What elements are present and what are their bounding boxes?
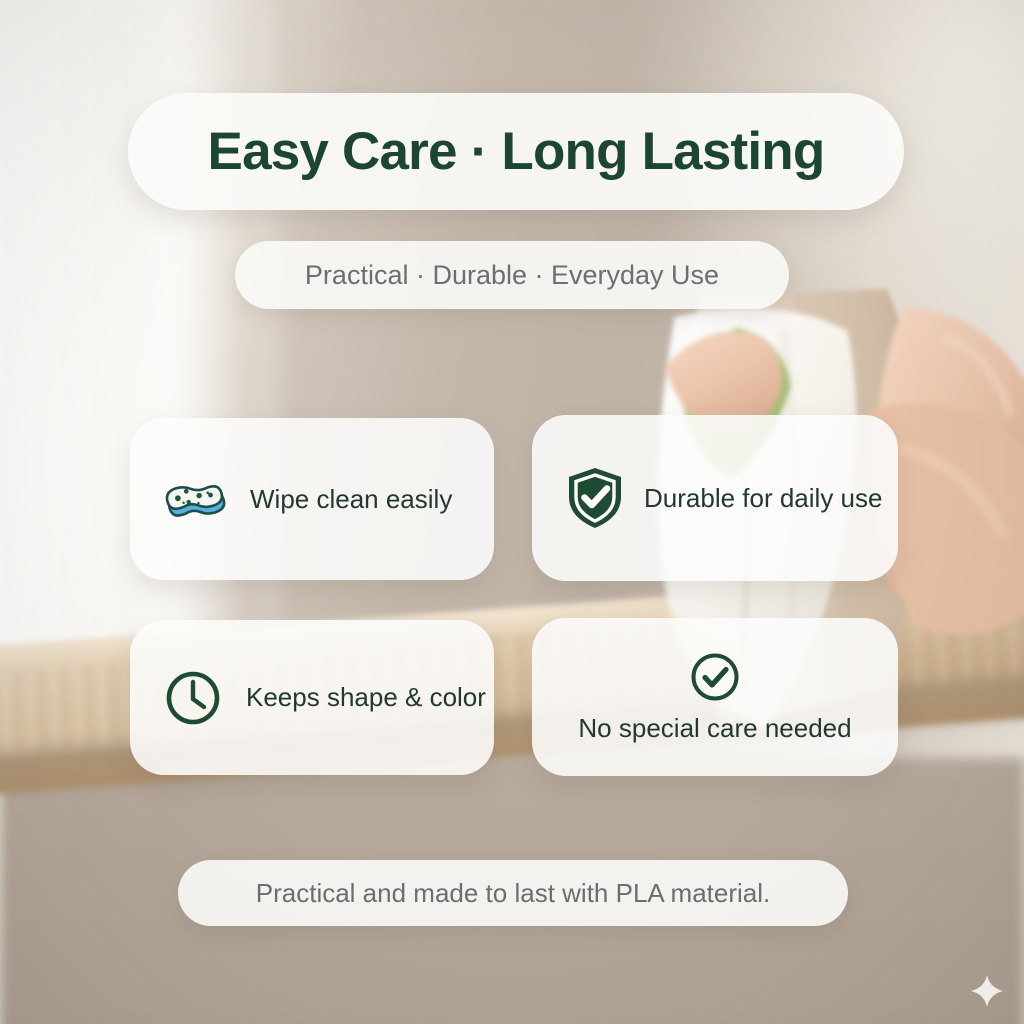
feature-card-keeps-shape[interactable]: Keeps shape & color [130,620,494,775]
shield-check-icon [566,466,624,530]
footer-text: Practical and made to last with PLA mate… [256,878,770,909]
sponge-icon [164,473,226,525]
sparkle-icon [970,974,1004,1008]
feature-card-wipe-clean[interactable]: Wipe clean easily [130,418,494,580]
content-overlay: Easy Care · Long Lasting Practical · Dur… [0,0,1024,1024]
subtitle-pill: Practical · Durable · Everyday Use [235,241,789,309]
feature-card-no-special-care[interactable]: No special care needed [532,618,898,776]
page-title: Easy Care · Long Lasting [208,121,825,182]
clock-icon [164,669,222,727]
feature-label: Durable for daily use [644,483,882,514]
feature-label: Wipe clean easily [250,484,452,515]
footer-pill: Practical and made to last with PLA mate… [178,860,848,926]
title-pill: Easy Care · Long Lasting [128,93,904,210]
feature-label: No special care needed [578,713,851,744]
feature-label: Keeps shape & color [246,682,486,713]
page-subtitle: Practical · Durable · Everyday Use [305,260,719,291]
feature-card-durable[interactable]: Durable for daily use [532,415,898,581]
circle-check-icon [689,651,741,703]
